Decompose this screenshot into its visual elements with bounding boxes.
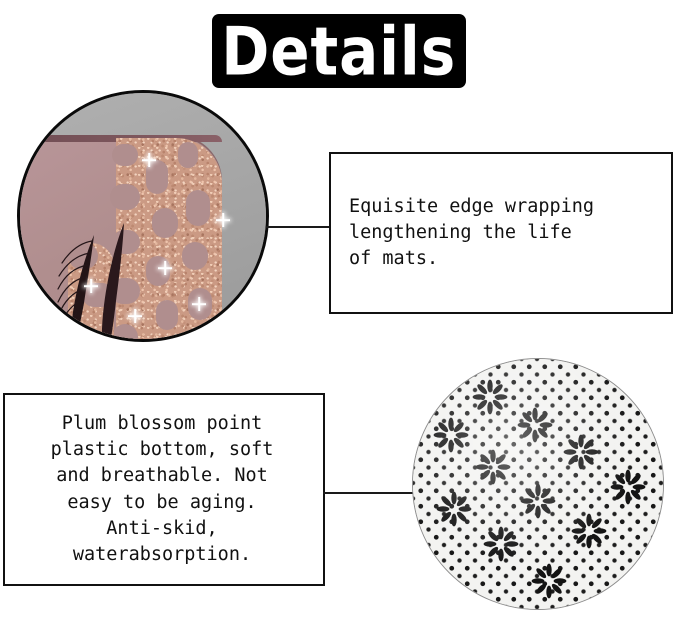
callout-edge-wrapping-text: Equisite edge wrapping lengthening the l… [349, 194, 671, 273]
mat-edge-closeup-photo [17, 90, 269, 342]
callout-edge-wrapping: Equisite edge wrapping lengthening the l… [329, 152, 673, 314]
details-title-banner: Details [212, 14, 466, 88]
callout-plastic-bottom-text: Plum blossom point plastic bottom, soft … [15, 411, 309, 569]
top-connector-line [266, 226, 331, 228]
page-title: Details [222, 18, 457, 85]
plastic-bottom-closeup-photo [412, 358, 664, 610]
bottom-connector-line [323, 492, 413, 494]
eyelash-graphic-right [94, 221, 138, 342]
callout-plastic-bottom: Plum blossom point plastic bottom, soft … [3, 393, 325, 586]
photo-shading [413, 359, 663, 609]
